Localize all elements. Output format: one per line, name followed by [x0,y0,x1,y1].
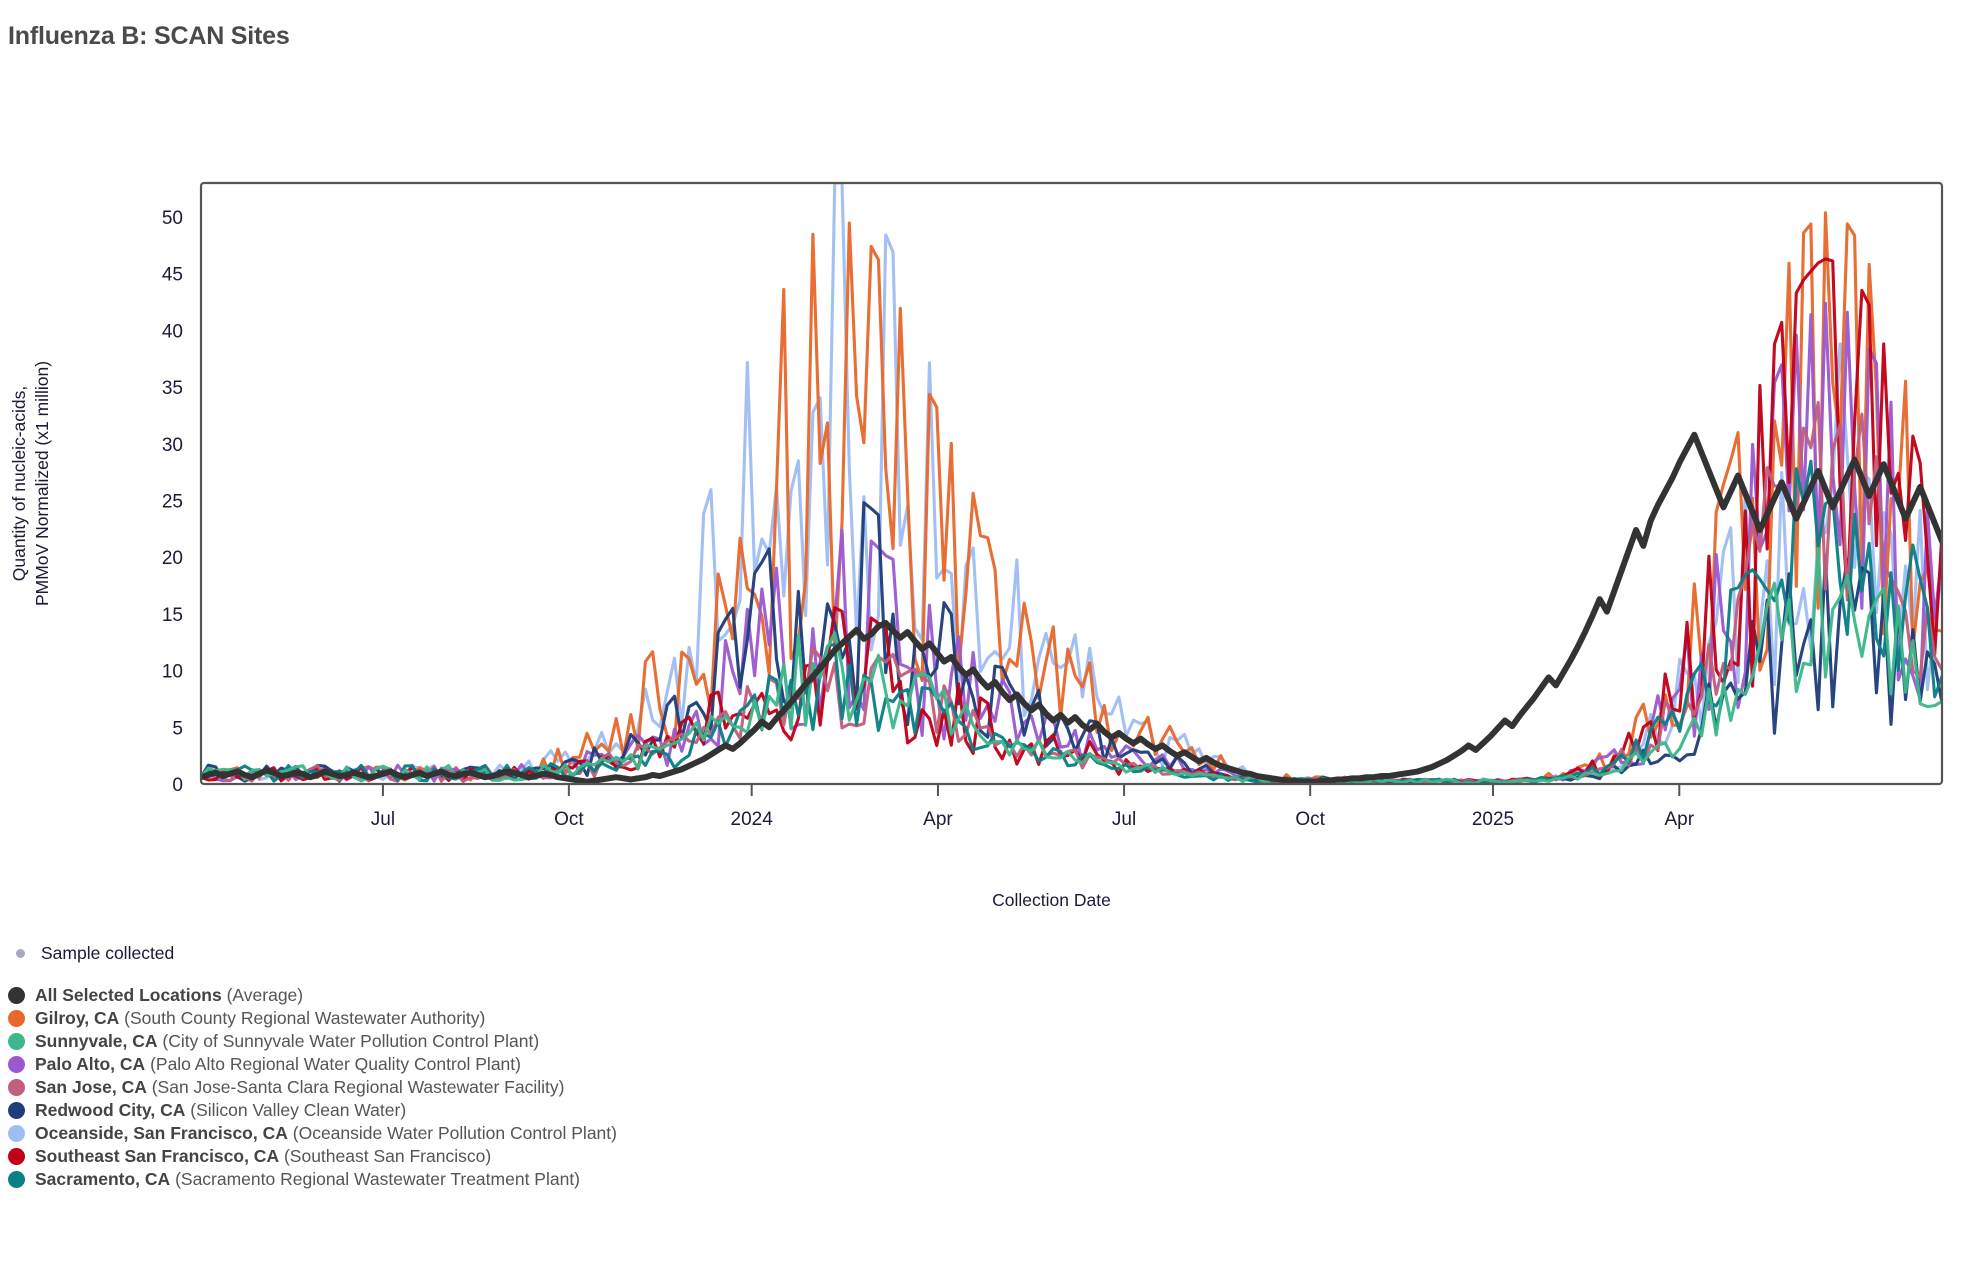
x-axis: JulOct2024AprJulOct2025Apr [371,784,1695,830]
y-tick-label: 20 [162,548,183,569]
legend-location-name: Southeast San Francisco, CA [35,1146,279,1167]
legend-facility-name: (Southeast San Francisco) [284,1146,491,1167]
legend-item[interactable]: Palo Alto, CA (Palo Alto Regional Water … [0,1053,1100,1076]
legend-facility-name: (Sacramento Regional Wastewater Treatmen… [175,1169,580,1190]
y-axis-title-line2: PMMoV Normalized (x1 million) [32,361,52,606]
legend-color-swatch-icon [8,1102,25,1119]
legend-series-list: All Selected Locations (Average)Gilroy, … [0,984,1100,1191]
sample-collected-dot-icon [16,949,25,958]
legend-facility-name: (Silicon Valley Clean Water) [190,1100,406,1121]
legend-facility-name: (South County Regional Wastewater Author… [124,1008,485,1029]
y-tick-label: 15 [162,605,183,626]
legend-item[interactable]: All Selected Locations (Average) [0,984,1100,1007]
series-line-southeast-san-francisco-ca[interactable] [201,259,1942,784]
legend-color-swatch-icon [8,1125,25,1142]
legend-facility-name: (Average) [227,985,304,1006]
y-tick-label: 45 [162,265,183,286]
y-axis-title: Quantity of nucleic-acids,PMMoV Normaliz… [9,361,52,606]
legend-location-name: Redwood City, CA [35,1100,185,1121]
legend-color-swatch-icon [8,1033,25,1050]
x-tick-label: Jul [1112,809,1136,830]
chart-legend: Sample collected All Selected Locations … [0,938,1100,1191]
legend-item[interactable]: San Jose, CA (San Jose-Santa Clara Regio… [0,1076,1100,1099]
legend-location-name: Sunnyvale, CA [35,1031,158,1052]
legend-item[interactable]: Redwood City, CA (Silicon Valley Clean W… [0,1099,1100,1122]
chart-page: Influenza B: SCAN Sites 0510152025303540… [0,0,1972,1262]
legend-color-swatch-icon [8,1010,25,1027]
legend-color-swatch-icon [8,1148,25,1165]
series-group [201,183,1942,784]
y-axis-title-line1: Quantity of nucleic-acids, [9,386,29,582]
x-tick-label: Apr [923,809,953,830]
legend-color-swatch-icon [8,1171,25,1188]
legend-facility-name: (City of Sunnyvale Water Pollution Contr… [162,1031,539,1052]
x-tick-label: 2024 [731,809,774,830]
legend-facility-name: (Oceanside Water Pollution Control Plant… [293,1123,617,1144]
legend-color-swatch-icon [8,1056,25,1073]
legend-location-name: Gilroy, CA [35,1008,119,1029]
legend-facility-name: (Palo Alto Regional Water Quality Contro… [150,1054,521,1075]
y-tick-label: 50 [162,208,183,229]
legend-location-name: Sacramento, CA [35,1169,170,1190]
x-tick-label: Apr [1664,809,1694,830]
x-axis-title: Collection Date [992,890,1111,910]
legend-location-name: Oceanside, San Francisco, CA [35,1123,288,1144]
legend-facility-name: (San Jose-Santa Clara Regional Wastewate… [152,1077,565,1098]
legend-item[interactable]: Gilroy, CA (South County Regional Wastew… [0,1007,1100,1030]
legend-location-name: All Selected Locations [35,985,222,1006]
y-tick-label: 40 [162,321,183,342]
legend-sample-collected[interactable]: Sample collected [0,938,1100,968]
legend-sample-collected-label: Sample collected [41,943,174,964]
y-tick-label: 30 [162,435,183,456]
legend-color-swatch-icon [8,987,25,1004]
legend-location-name: Palo Alto, CA [35,1054,145,1075]
legend-color-swatch-icon [8,1079,25,1096]
x-tick-label: Oct [1295,809,1325,830]
y-tick-label: 0 [172,775,183,796]
x-tick-label: Jul [371,809,395,830]
influenza-b-line-chart: 05101520253035404550Quantity of nucleic-… [0,0,1972,920]
legend-item[interactable]: Southeast San Francisco, CA (Southeast S… [0,1145,1100,1168]
x-tick-label: Oct [554,809,584,830]
legend-location-name: San Jose, CA [35,1077,147,1098]
y-tick-label: 5 [172,718,183,739]
y-tick-label: 10 [162,662,183,683]
x-tick-label: 2025 [1472,809,1514,830]
legend-item[interactable]: Sacramento, CA (Sacramento Regional Wast… [0,1168,1100,1191]
y-axis: 05101520253035404550 [162,208,183,796]
y-tick-label: 25 [162,492,183,513]
legend-item[interactable]: Sunnyvale, CA (City of Sunnyvale Water P… [0,1030,1100,1053]
legend-item[interactable]: Oceanside, San Francisco, CA (Oceanside … [0,1122,1100,1145]
y-tick-label: 35 [162,378,183,399]
